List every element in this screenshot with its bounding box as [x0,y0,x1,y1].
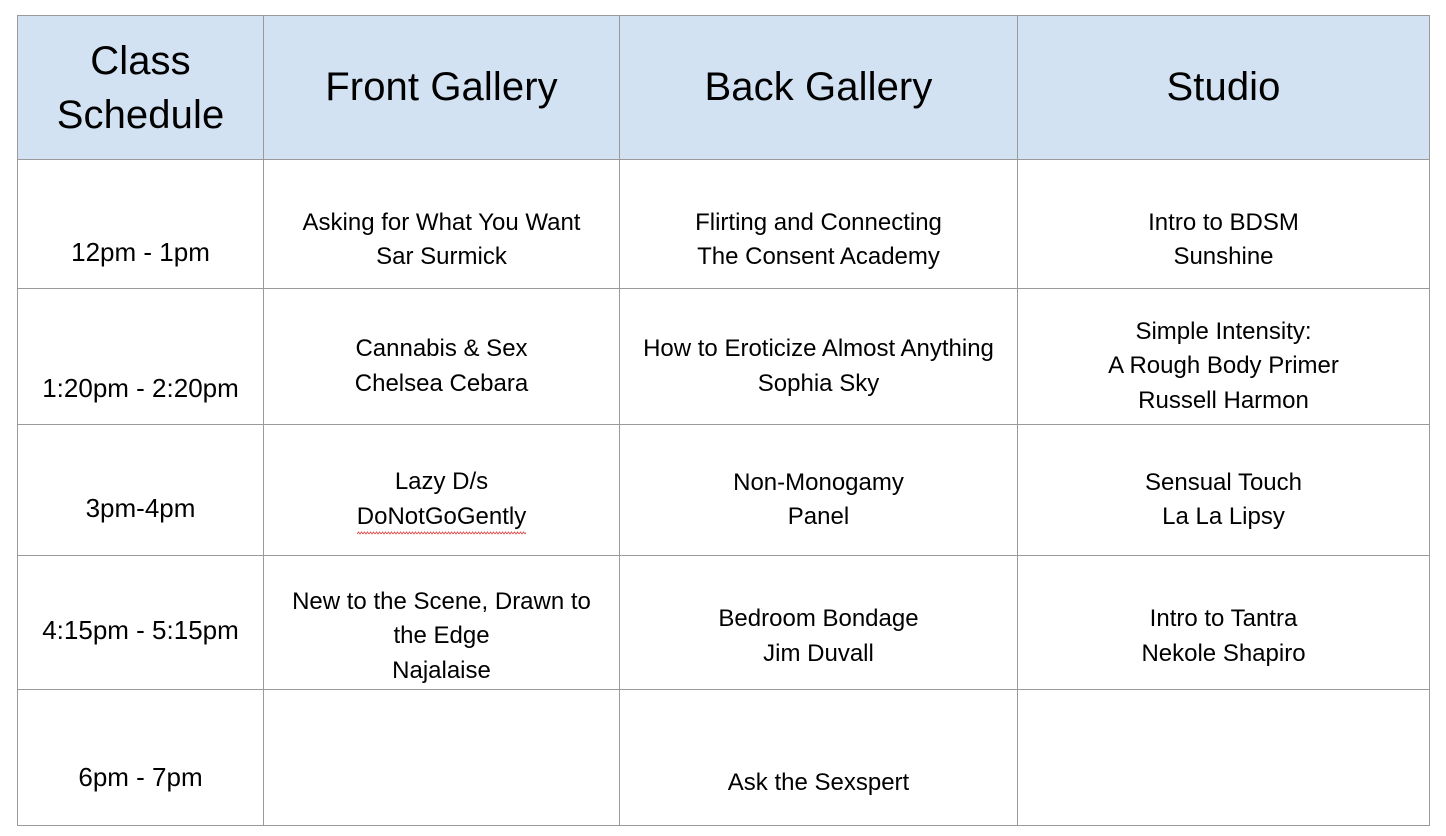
session-cell-front-gallery: New to the Scene, Drawn tothe EdgeNajala… [264,556,620,690]
session-text: Ask the Sexspert [620,766,1017,800]
page-title-line2: Schedule [57,93,225,137]
column-header-back-gallery-label: Back Gallery [705,65,933,109]
session-cell-front-gallery: Lazy D/sDoNotGoGently [264,425,620,556]
session-line: Bedroom Bondage [630,602,1007,636]
session-text: Sensual TouchLa La Lipsy [1018,466,1429,534]
session-cell-front-gallery: Asking for What You WantSar Surmick [264,160,620,289]
session-cell-studio: Simple Intensity:A Rough Body PrimerRuss… [1018,289,1430,425]
table-row: 3pm-4pm Lazy D/sDoNotGoGently Non-Monoga… [18,425,1430,556]
column-header-front-gallery-label: Front Gallery [325,65,557,109]
time-slot-cell: 4:15pm - 5:15pm [18,556,264,690]
session-text: Cannabis & SexChelsea Cebara [264,332,619,400]
session-cell-studio: Intro to BDSMSunshine [1018,160,1430,289]
session-line: Asking for What You Want [274,206,609,240]
page-title-line1: Class [90,39,191,83]
table-row: 12pm - 1pm Asking for What You WantSar S… [18,160,1430,289]
session-line: Flirting and Connecting [630,206,1007,240]
session-line: Intro to Tantra [1028,602,1419,636]
time-slot-cell: 1:20pm - 2:20pm [18,289,264,425]
table-row: 6pm - 7pm Ask the Sexspert [18,690,1430,826]
column-header-back-gallery: Back Gallery [620,16,1018,160]
session-line: How to Eroticize Almost Anything [630,332,1007,366]
session-text: Flirting and ConnectingThe Consent Acade… [620,206,1017,274]
session-line: The Consent Academy [630,240,1007,274]
table-row: 1:20pm - 2:20pm Cannabis & SexChelsea Ce… [18,289,1430,425]
session-cell-studio: Sensual TouchLa La Lipsy [1018,425,1430,556]
time-slot-label: 1:20pm - 2:20pm [18,372,263,405]
schedule-body: Class Schedule Front Gallery Back Galler… [18,16,1430,826]
column-header-class-schedule: Class Schedule [18,16,264,160]
header-row: Class Schedule Front Gallery Back Galler… [18,16,1430,160]
session-cell-studio: Intro to TantraNekole Shapiro [1018,556,1430,690]
session-cell-front-gallery: Cannabis & SexChelsea Cebara [264,289,620,425]
session-text: Asking for What You WantSar Surmick [264,206,619,274]
session-line: Sunshine [1028,240,1419,274]
time-slot-label: 3pm-4pm [18,492,263,525]
session-text: How to Eroticize Almost AnythingSophia S… [620,332,1017,400]
session-text: Bedroom BondageJim Duvall [620,602,1017,670]
session-cell-front-gallery [264,690,620,826]
session-line: Ask the Sexspert [630,766,1007,800]
session-line: Najalaise [274,654,609,688]
session-cell-back-gallery: How to Eroticize Almost AnythingSophia S… [620,289,1018,425]
column-header-studio: Studio [1018,16,1430,160]
session-text: Intro to TantraNekole Shapiro [1018,602,1429,670]
class-schedule-table: Class Schedule Front Gallery Back Galler… [17,15,1430,826]
session-cell-back-gallery: Ask the Sexspert [620,690,1018,826]
session-line: Panel [630,500,1007,534]
session-line: Simple Intensity: [1028,315,1419,349]
session-text: Simple Intensity:A Rough Body PrimerRuss… [1018,315,1429,417]
session-line: New to the Scene, Drawn to [274,585,609,619]
schedule-sheet: Class Schedule Front Gallery Back Galler… [17,15,1429,819]
session-cell-back-gallery: Non-MonogamyPanel [620,425,1018,556]
time-slot-cell: 3pm-4pm [18,425,264,556]
session-text: Intro to BDSMSunshine [1018,206,1429,274]
session-line: Cannabis & Sex [274,332,609,366]
time-slot-label: 6pm - 7pm [18,761,263,794]
session-cell-studio [1018,690,1430,826]
session-line: A Rough Body Primer [1028,349,1419,383]
session-cell-back-gallery: Bedroom BondageJim Duvall [620,556,1018,690]
session-line: Sensual Touch [1028,466,1419,500]
session-line: La La Lipsy [1028,500,1419,534]
column-header-studio-label: Studio [1166,65,1280,109]
session-line: Sophia Sky [630,367,1007,401]
session-line: the Edge [274,619,609,653]
column-header-front-gallery: Front Gallery [264,16,620,160]
table-row: 4:15pm - 5:15pm New to the Scene, Drawn … [18,556,1430,690]
session-line: Russell Harmon [1028,384,1419,418]
session-line: Jim Duvall [630,637,1007,671]
session-line: Lazy D/s [274,465,609,499]
session-line: Non-Monogamy [630,466,1007,500]
session-line: DoNotGoGently [274,500,609,535]
session-line: Intro to BDSM [1028,206,1419,240]
session-line: Chelsea Cebara [274,367,609,401]
session-line: Sar Surmick [274,240,609,274]
time-slot-cell: 12pm - 1pm [18,160,264,289]
time-slot-label: 4:15pm - 5:15pm [18,614,263,647]
session-cell-back-gallery: Flirting and ConnectingThe Consent Acade… [620,160,1018,289]
time-slot-cell: 6pm - 7pm [18,690,264,826]
session-text: Non-MonogamyPanel [620,466,1017,534]
time-slot-label: 12pm - 1pm [18,236,263,269]
session-text: Lazy D/sDoNotGoGently [264,465,619,534]
session-text: New to the Scene, Drawn tothe EdgeNajala… [264,585,619,687]
spellcheck-underline: DoNotGoGently [357,500,526,535]
session-line: Nekole Shapiro [1028,637,1419,671]
